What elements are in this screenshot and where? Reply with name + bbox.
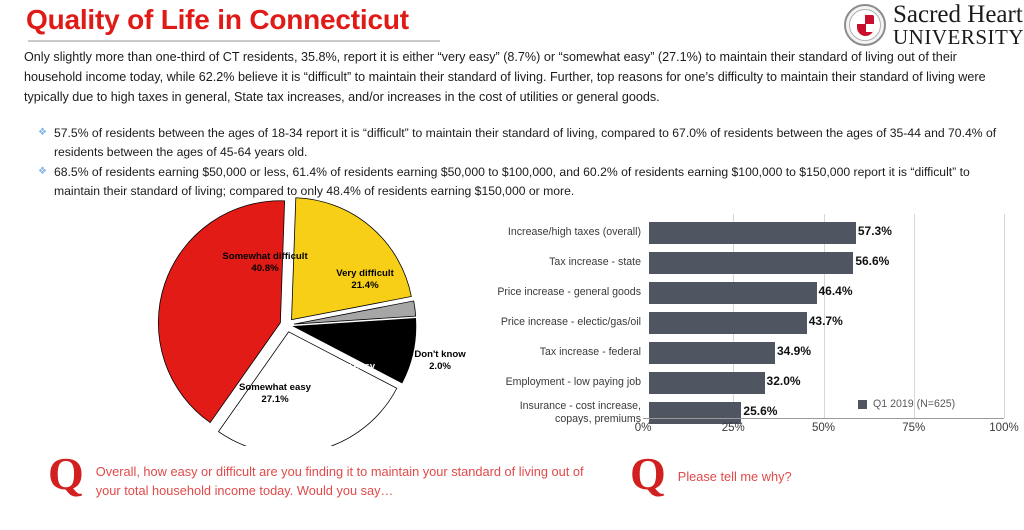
bar-category-label: Tax increase - federal — [486, 346, 649, 359]
slide-root: Quality of Life in Connecticut Sacred He… — [0, 0, 1024, 530]
bar-track: 32.0% — [649, 372, 1016, 394]
pie-label-dont-know: Don't know 2.0% — [398, 349, 482, 373]
x-tick-label: 0% — [635, 422, 652, 434]
x-tick-label: 25% — [722, 422, 745, 434]
pie-chart-svg — [130, 196, 480, 446]
legend-label: Q1 2019 (N=625) — [873, 398, 955, 410]
question-block-2: Q Please tell me why? — [630, 456, 1010, 492]
bar-value-label: 46.4% — [819, 284, 853, 298]
pie-label-text: Somewhat easy — [239, 382, 311, 393]
question-text: Please tell me why? — [678, 456, 792, 486]
logo-line-1: Sacred Heart — [893, 2, 1024, 27]
shield-icon — [857, 15, 874, 36]
x-tick-label: 100% — [989, 422, 1018, 434]
bullet-list: ❖ 57.5% of residents between the ages of… — [38, 124, 1013, 202]
bar-value-label: 25.6% — [743, 404, 777, 418]
bar-fill — [649, 282, 817, 304]
pie-value-text: 2.0% — [429, 361, 451, 372]
list-item: ❖ 57.5% of residents between the ages of… — [38, 124, 1013, 161]
pie-chart: Somewhat difficult 40.8% Very difficult … — [130, 196, 480, 446]
bar-row: Employment - low paying job32.0% — [486, 368, 1016, 397]
bar-category-label: Tax increase - state — [486, 256, 649, 269]
bar-track: 34.9% — [649, 342, 1016, 364]
bar-row: Increase/high taxes (overall)57.3% — [486, 218, 1016, 247]
bar-value-label: 43.7% — [809, 314, 843, 328]
diamond-bullet-icon: ❖ — [38, 163, 47, 200]
list-item: ❖ 68.5% of residents earning $50,000 or … — [38, 163, 1013, 200]
pie-label-text: Don't know — [414, 349, 465, 360]
bar-row: Price increase - electic/gas/oil43.7% — [486, 308, 1016, 337]
bar-fill — [649, 402, 741, 424]
bar-rows: Increase/high taxes (overall)57.3%Tax in… — [486, 218, 1016, 428]
bar-value-label: 57.3% — [858, 224, 892, 238]
pie-value-text: 27.1% — [261, 394, 288, 405]
bar-row: Tax increase - federal34.9% — [486, 338, 1016, 367]
question-mark-icon: Q — [630, 456, 666, 492]
bullet-text: 68.5% of residents earning $50,000 or le… — [54, 163, 1013, 200]
bar-track: 25.6% — [649, 402, 1016, 424]
x-axis-ticks: 0%25%50%75%100% — [486, 422, 1016, 442]
pie-label-text: Very easy — [331, 361, 375, 372]
bar-category-label: Price increase - general goods — [486, 286, 649, 299]
title-divider — [28, 40, 440, 42]
logo-line-2: UNIVERSITY — [893, 27, 1024, 48]
bar-track: 46.4% — [649, 282, 1016, 304]
pie-label-text: Somewhat difficult — [222, 251, 307, 262]
question-mark-icon: Q — [48, 456, 84, 492]
bar-fill — [649, 252, 853, 274]
seal-inner-ring — [849, 9, 881, 41]
bar-category-label: Employment - low paying job — [486, 376, 649, 389]
bar-fill — [649, 312, 807, 334]
university-logo: Sacred Heart UNIVERSITY — [844, 2, 1024, 48]
x-axis-line — [643, 418, 1004, 419]
x-tick-label: 75% — [902, 422, 925, 434]
bar-value-label: 34.9% — [777, 344, 811, 358]
bar-track: 57.3% — [649, 222, 1016, 244]
bar-row: Tax increase - state56.6% — [486, 248, 1016, 277]
bar-fill — [649, 222, 856, 244]
bar-row: Price increase - general goods46.4% — [486, 278, 1016, 307]
pie-value-text: 40.8% — [251, 263, 278, 274]
logo-wordmark: Sacred Heart UNIVERSITY — [893, 2, 1024, 48]
bullet-text: 57.5% of residents between the ages of 1… — [54, 124, 1013, 161]
bar-value-label: 32.0% — [767, 374, 801, 388]
intro-paragraph: Only slightly more than one-third of CT … — [24, 48, 1012, 108]
bar-category-label: Increase/high taxes (overall) — [486, 226, 649, 239]
pie-label-text: Very difficult — [336, 268, 394, 279]
bar-category-label: Price increase - electic/gas/oil — [486, 316, 649, 329]
bar-chart: Increase/high taxes (overall)57.3%Tax in… — [486, 210, 1016, 445]
bar-track: 56.6% — [649, 252, 1016, 274]
bar-fill — [649, 372, 765, 394]
diamond-bullet-icon: ❖ — [38, 124, 47, 161]
bar-track: 43.7% — [649, 312, 1016, 334]
pie-label-very-difficult: Very difficult 21.4% — [305, 268, 425, 292]
bar-value-label: 56.6% — [855, 254, 889, 268]
pie-value-text: 21.4% — [351, 280, 378, 291]
pie-label-somewhat-easy: Somewhat easy 27.1% — [200, 382, 350, 406]
question-text: Overall, how easy or difficult are you f… — [96, 456, 588, 500]
chart-legend: Q1 2019 (N=625) — [858, 398, 955, 410]
sacred-heart-seal-icon — [844, 4, 886, 46]
question-block-1: Q Overall, how easy or difficult are you… — [48, 456, 588, 500]
legend-swatch-icon — [858, 400, 867, 409]
bar-fill — [649, 342, 775, 364]
x-tick-label: 50% — [812, 422, 835, 434]
page-title: Quality of Life in Connecticut — [26, 4, 409, 36]
